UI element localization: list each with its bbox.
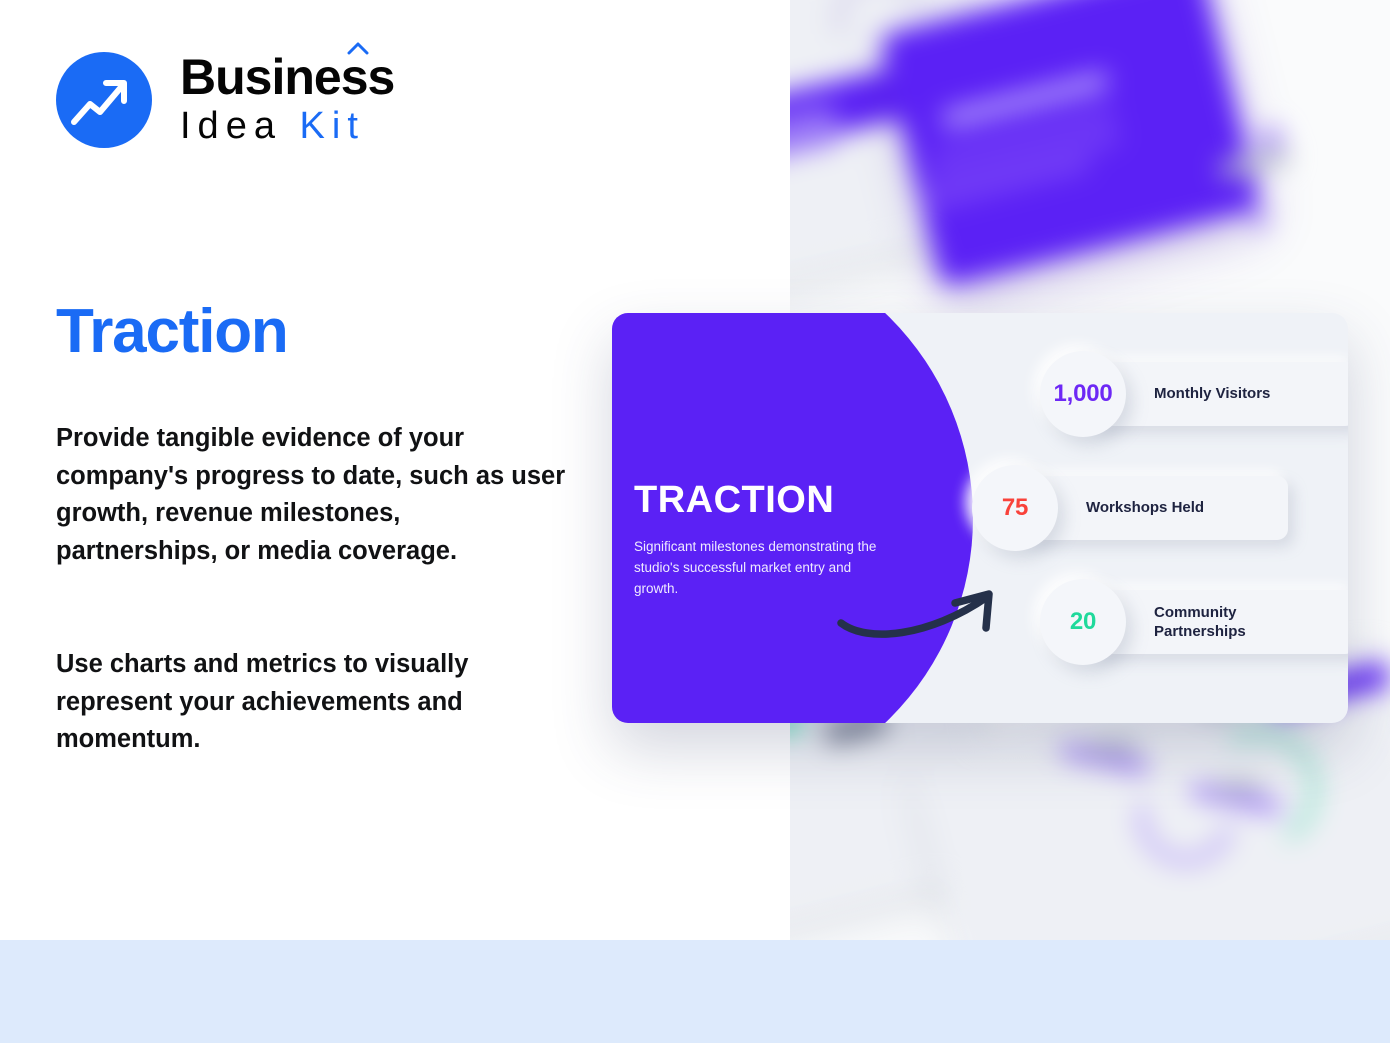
caret-accent-icon <box>347 41 369 55</box>
brand-name-line1-text: Business <box>180 49 394 105</box>
slide-title: TRACTION <box>634 481 834 519</box>
metric-pill: Workshops Held <box>1020 476 1288 540</box>
metric-label: Workshops Held <box>1086 498 1204 517</box>
brand-name-line1: Business <box>180 52 394 102</box>
bg-chip-3 <box>1090 740 1138 754</box>
brand-logo[interactable]: Business Idea Kit <box>56 52 394 149</box>
metric-label: Community Partnerships <box>1154 603 1246 641</box>
brand-name-kit: Kit <box>300 105 365 147</box>
slide-canvas: TRACTION Significant milestones demonstr… <box>0 0 1390 1043</box>
metric-value: 1,000 <box>1053 380 1112 408</box>
growth-chart-circle-icon <box>56 52 152 148</box>
brand-wordmark: Business Idea Kit <box>180 52 394 149</box>
metric-label: Monthly Visitors <box>1154 384 1270 403</box>
metric-circle: 20 <box>1040 579 1126 665</box>
metric-pill: Community Partnerships <box>1088 590 1348 654</box>
traction-slide-card[interactable]: TRACTION Significant milestones demonstr… <box>612 313 1348 723</box>
metric-value: 20 <box>1070 608 1096 636</box>
metric-circle: 1,000 <box>1040 351 1126 437</box>
body-paragraph-1: Provide tangible evidence of your compan… <box>56 420 566 571</box>
metric-circle: 75 <box>972 465 1058 551</box>
page-title: Traction <box>56 296 288 367</box>
metric-pill: Monthly Visitors <box>1088 362 1348 426</box>
body-paragraph-2: Use charts and metrics to visually repre… <box>56 646 566 759</box>
metrics-list: Monthly Visitors 1,000 Workshops Held 75… <box>972 351 1332 691</box>
brand-name-line2: Idea Kit <box>180 104 394 149</box>
bg-dot-purple-2 <box>1248 208 1270 230</box>
brand-name-idea: Idea <box>180 105 282 147</box>
bottom-color-band <box>0 940 1390 1043</box>
metric-value: 75 <box>1002 494 1028 522</box>
